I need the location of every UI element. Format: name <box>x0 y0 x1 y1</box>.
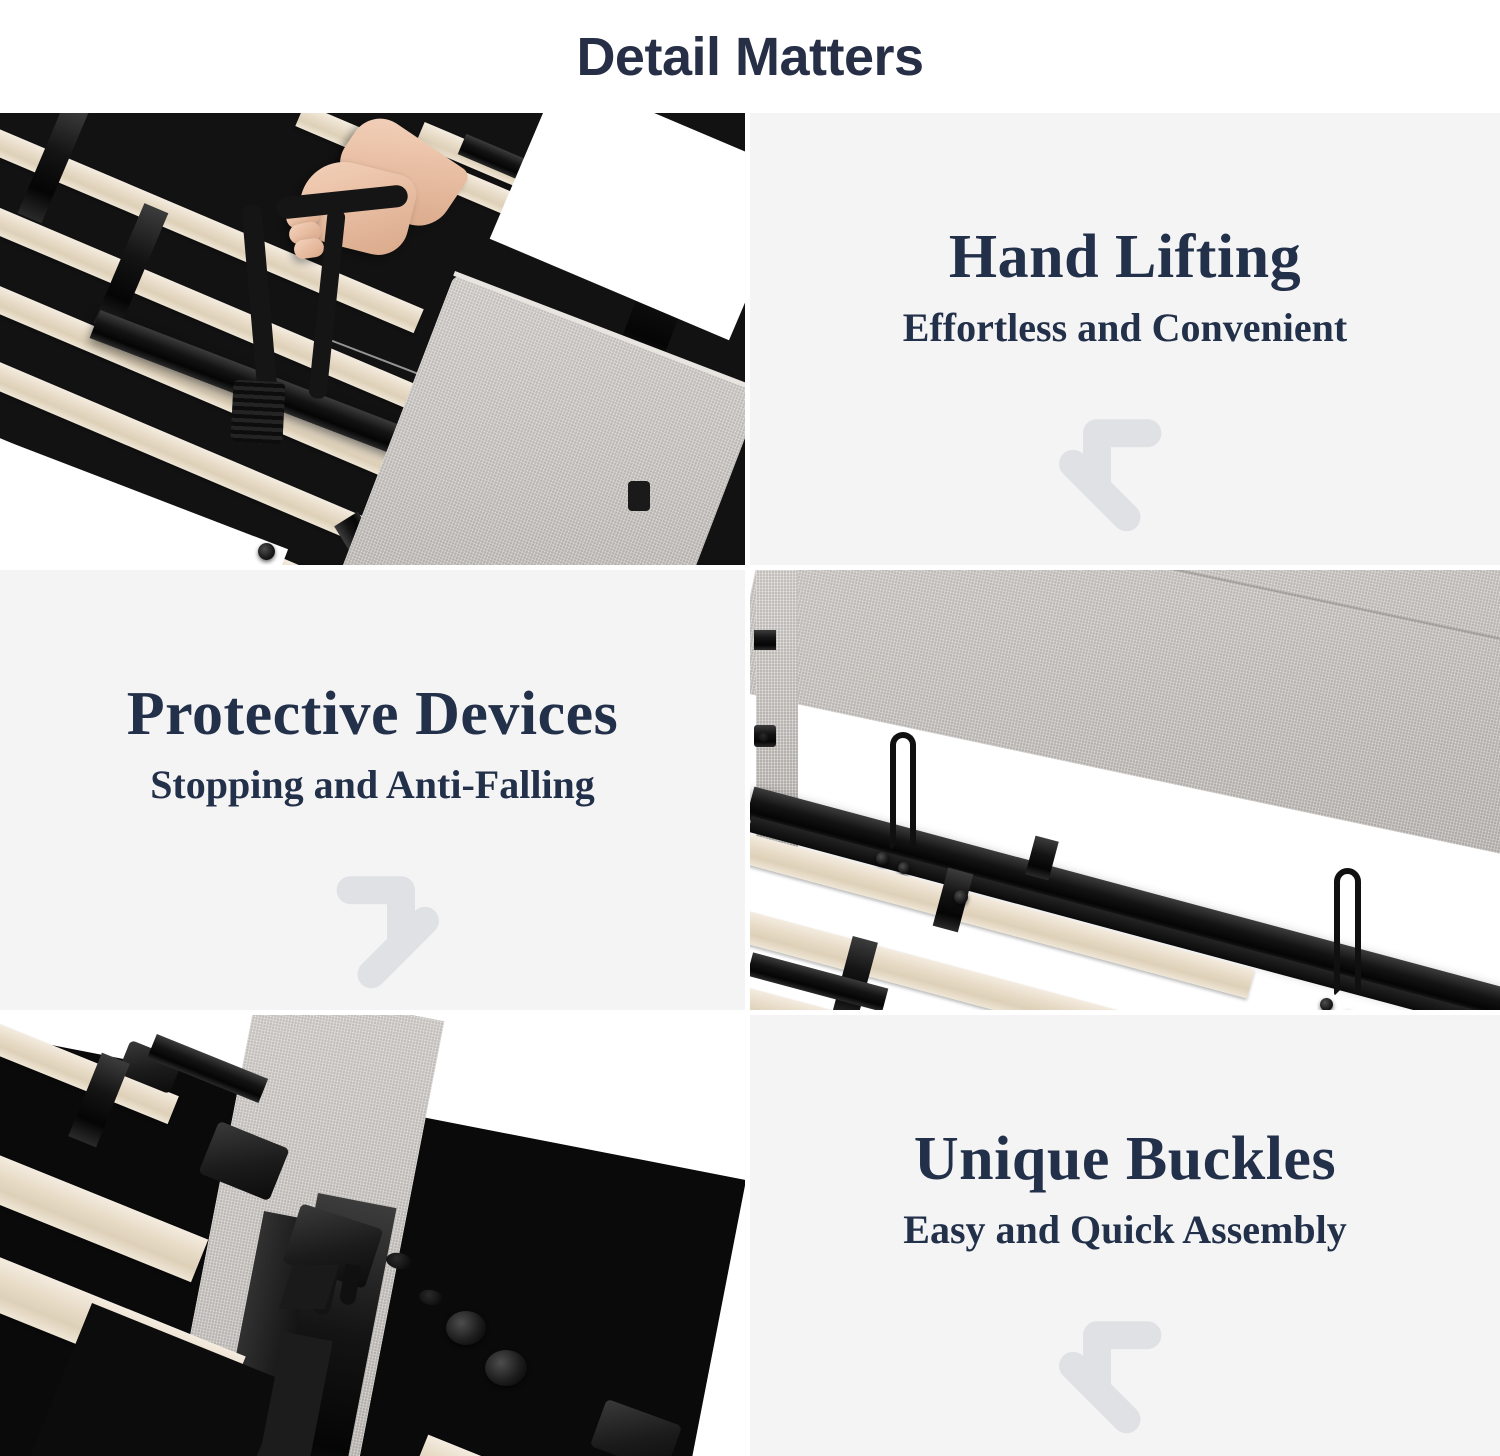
hand-lifting-title: Hand Lifting <box>949 225 1301 290</box>
hand-lifting-textblock: Hand Lifting Effortless and Convenient <box>750 113 1500 565</box>
safety-stopper-photo <box>750 570 1500 1010</box>
hand-lifting-subtitle: Effortless and Convenient <box>903 306 1347 350</box>
panel-hand-lifting-text: Hand Lifting Effortless and Convenient <box>745 113 1500 565</box>
unique-buckles-textblock: Unique Buckles Easy and Quick Assembly <box>750 1015 1500 1456</box>
protective-devices-textblock: Protective Devices Stopping and Anti-Fal… <box>0 570 745 1010</box>
rubber-grommet <box>485 1350 527 1386</box>
panel-protective-devices-text: Protective Devices Stopping and Anti-Fal… <box>0 565 745 1010</box>
panel-hand-lifting-photo <box>0 113 745 565</box>
arrow-up-right-icon <box>303 851 443 991</box>
arrow-up-left-icon <box>1055 1296 1195 1436</box>
wire-stopper <box>890 732 916 850</box>
protective-devices-subtitle: Stopping and Anti-Falling <box>150 763 595 807</box>
infographic-page: Detail Matters <box>0 0 1500 1456</box>
panel-unique-buckles-text: Unique Buckles Easy and Quick Assembly <box>745 1010 1500 1456</box>
unique-buckles-title: Unique Buckles <box>914 1127 1336 1192</box>
panel-unique-buckles-photo <box>0 1010 745 1456</box>
panel-protective-devices-photo <box>745 565 1500 1010</box>
unique-buckles-subtitle: Easy and Quick Assembly <box>903 1208 1346 1252</box>
bed-frame-lift-photo <box>0 113 745 565</box>
rubber-grommet <box>446 1311 486 1345</box>
buckle-closeup-photo <box>0 1015 745 1456</box>
protective-devices-title: Protective Devices <box>127 682 619 747</box>
page-header: Detail Matters <box>0 0 1500 113</box>
page-title: Detail Matters <box>576 30 923 84</box>
wire-stopper <box>1334 868 1361 996</box>
feature-grid: Hand Lifting Effortless and Convenient P… <box>0 113 1500 1456</box>
arrow-up-left-icon <box>1055 394 1195 534</box>
